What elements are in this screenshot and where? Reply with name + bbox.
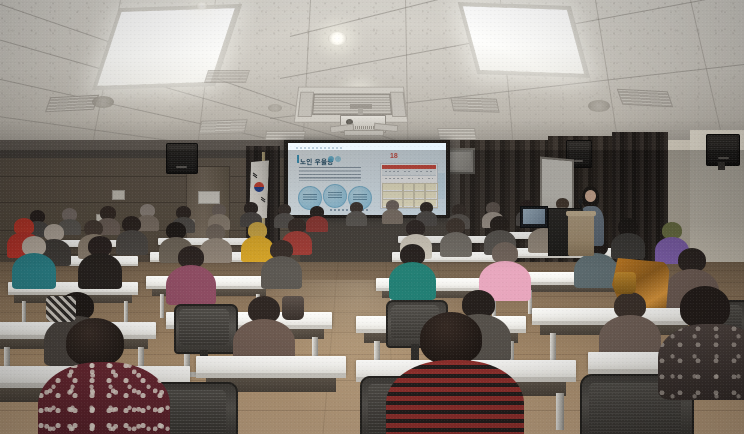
projector-bracket-arm [344, 130, 384, 136]
slide-title-accent [297, 155, 299, 163]
slide-title-dot [328, 156, 334, 162]
handbag [282, 296, 304, 320]
handbag [614, 272, 636, 294]
ceiling-speaker [92, 96, 114, 108]
wall-speaker-left [166, 143, 198, 174]
slide-circle-2 [323, 184, 347, 208]
slide-title-dot [335, 156, 341, 162]
downlight [328, 32, 347, 45]
ceiling-speaker [588, 100, 610, 112]
microphone [578, 199, 583, 204]
slide-table-subheader [382, 169, 436, 176]
door-sign [198, 191, 220, 204]
ceiling-vent [450, 97, 499, 113]
monitor [520, 206, 548, 228]
lectern-top [566, 211, 596, 216]
downlight [196, 2, 208, 10]
speaker-bracket [718, 162, 725, 170]
handbag [46, 296, 76, 322]
table [196, 356, 346, 374]
lectern [568, 214, 594, 256]
slide-table-row [382, 176, 436, 182]
flag-taeguk-circle [254, 182, 264, 192]
slide-table-row [382, 183, 436, 190]
lecture-hall-scene: 노인 우울증 18 [0, 0, 744, 434]
slide-table-row [382, 191, 436, 198]
ceiling-vent [45, 95, 99, 112]
ceiling-vent [437, 128, 477, 140]
slide-header-bar [296, 147, 342, 149]
ceiling-vent [617, 89, 674, 108]
ceiling-speaker [268, 104, 282, 112]
ac-side-panel [390, 92, 407, 117]
slide-number: 18 [390, 153, 398, 160]
wall-switch-plate[interactable] [112, 190, 125, 200]
ceiling [0, 0, 744, 152]
ceiling-vent [204, 70, 250, 83]
framed-picture-image [447, 152, 471, 170]
slide-paragraph [299, 167, 361, 181]
ac-side-panel [298, 92, 315, 117]
ceiling-vent [198, 119, 247, 135]
